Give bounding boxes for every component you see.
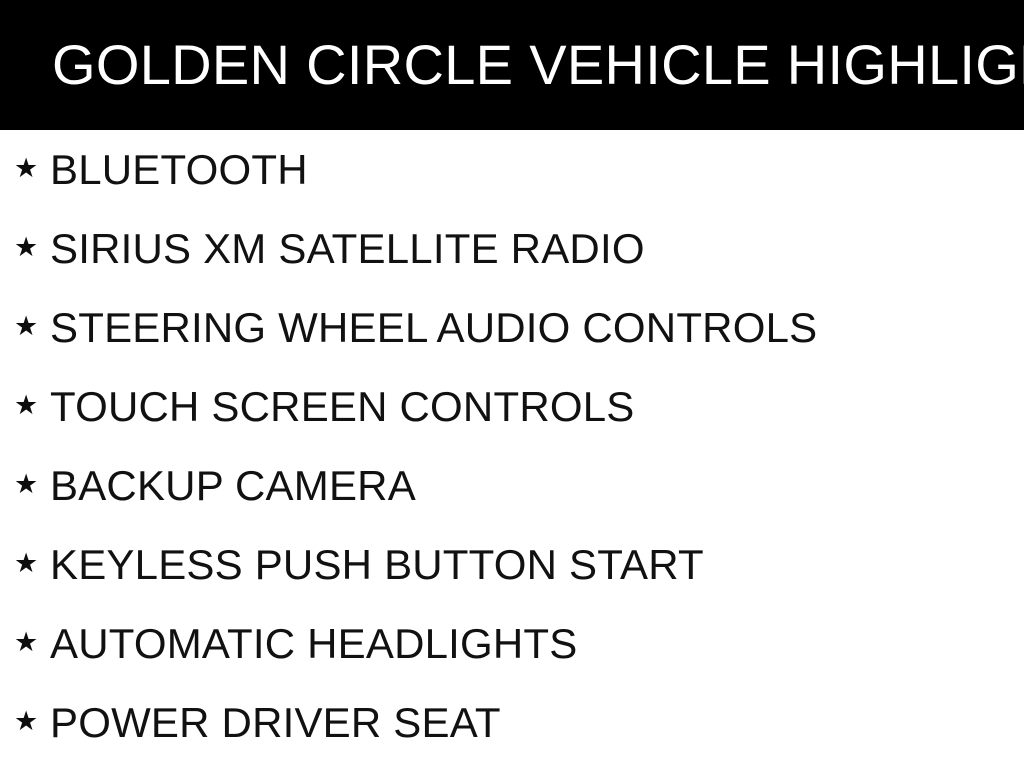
star-bullet-icon: ★: [14, 550, 36, 577]
feature-label: TOUCH SCREEN CONTROLS: [50, 386, 635, 428]
page-title: GOLDEN CIRCLE VEHICLE HIGHLIGHTS: [52, 0, 1024, 130]
vehicle-highlights-slide: GOLDEN CIRCLE VEHICLE HIGHLIGHTS ★ BLUET…: [0, 0, 1024, 768]
feature-label: BLUETOOTH: [50, 149, 308, 191]
feature-label: STEERING WHEEL AUDIO CONTROLS: [50, 307, 817, 349]
star-bullet-icon: ★: [14, 155, 36, 182]
star-bullet-icon: ★: [14, 392, 36, 419]
star-bullet-icon: ★: [14, 629, 36, 656]
star-bullet-icon: ★: [14, 234, 36, 261]
feature-label: AUTOMATIC HEADLIGHTS: [50, 623, 578, 665]
star-bullet-icon: ★: [14, 313, 36, 340]
list-item: ★ AUTOMATIC HEADLIGHTS: [0, 604, 1024, 683]
list-item: ★ POWER DRIVER SEAT: [0, 683, 1024, 762]
vehicle-highlights-list: ★ BLUETOOTH ★ SIRIUS XM SATELLITE RADIO …: [0, 130, 1024, 762]
list-item: ★ TOUCH SCREEN CONTROLS: [0, 367, 1024, 446]
star-bullet-icon: ★: [14, 471, 36, 498]
star-bullet-icon: ★: [14, 708, 36, 735]
feature-label: POWER DRIVER SEAT: [50, 702, 501, 744]
list-item: ★ BACKUP CAMERA: [0, 446, 1024, 525]
list-item: ★ KEYLESS PUSH BUTTON START: [0, 525, 1024, 604]
list-item: ★ SIRIUS XM SATELLITE RADIO: [0, 209, 1024, 288]
feature-label: BACKUP CAMERA: [50, 465, 416, 507]
header-bar: GOLDEN CIRCLE VEHICLE HIGHLIGHTS: [0, 0, 1024, 130]
list-item: ★ BLUETOOTH: [0, 130, 1024, 209]
feature-label: KEYLESS PUSH BUTTON START: [50, 544, 704, 586]
feature-label: SIRIUS XM SATELLITE RADIO: [50, 228, 645, 270]
list-item: ★ STEERING WHEEL AUDIO CONTROLS: [0, 288, 1024, 367]
